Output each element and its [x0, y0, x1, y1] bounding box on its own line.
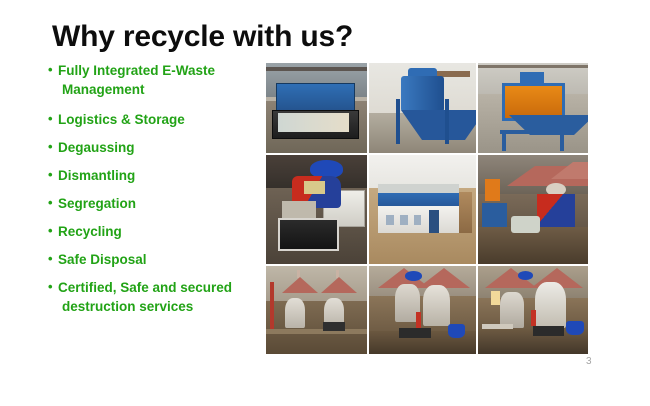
photo-red-extraction-hood	[418, 268, 470, 288]
bullet-marker-icon: •	[48, 195, 58, 211]
photo-stand-leg-right	[560, 130, 564, 152]
gallery-photo-shredder-machine	[265, 62, 368, 154]
gallery-photo-worker-under-hood	[477, 154, 589, 265]
list-item: • Segregation	[48, 195, 263, 212]
page-title: Why recycle with us?	[52, 20, 353, 54]
photo-worker-figure	[500, 292, 524, 327]
list-item-label: Fully Integrated E-Waste Management	[58, 62, 263, 98]
slide-number: 3	[586, 356, 592, 367]
photo-dismantled-chassis	[278, 218, 339, 250]
photo-building-blue-band	[378, 193, 459, 206]
gallery-photo-orange-panel-machine	[477, 62, 589, 154]
list-item: • Logistics & Storage	[48, 111, 263, 128]
list-item: • Degaussing	[48, 139, 263, 156]
gallery-photo-worker-dismantling	[265, 154, 368, 265]
gallery-photo-cyclone-separator	[368, 62, 477, 154]
photo-red-extraction-hood	[282, 277, 318, 293]
photo-blue-bucket	[566, 321, 584, 335]
photo-building-door	[429, 210, 439, 234]
gallery-photo-facility-building	[368, 154, 477, 265]
list-item-label: Segregation	[58, 195, 263, 212]
photo-orange-equipment	[485, 179, 500, 201]
photo-blue-bucket	[448, 324, 465, 338]
photo-work-lamp	[491, 291, 500, 305]
list-item-label: Logistics & Storage	[58, 111, 263, 128]
bullet-marker-icon: •	[48, 279, 58, 295]
photo-workbench	[266, 329, 367, 333]
list-item-line1: Fully Integrated E-Waste	[58, 63, 215, 78]
photo-bench-item	[511, 216, 540, 233]
photo-roof-beam	[478, 65, 588, 69]
photo-building-window	[414, 215, 421, 225]
photo-worker-figure	[285, 298, 305, 328]
list-item: • Dismantling	[48, 167, 263, 184]
list-item-label: Dismantling	[58, 167, 263, 184]
photo-bench-plank	[482, 324, 513, 329]
bullet-marker-icon: •	[48, 111, 58, 127]
photo-bench-device	[533, 326, 564, 337]
list-item: • Certified, Safe and secured destructio…	[48, 279, 263, 315]
photo-worker-figure	[535, 282, 566, 328]
photo-machine-panel	[278, 113, 349, 132]
list-item-line2: destruction services	[58, 298, 263, 315]
list-item: • Recycling	[48, 223, 263, 240]
bullet-marker-icon: •	[48, 62, 58, 78]
photo-ceiling-beam	[266, 67, 367, 72]
photo-cyclone-body	[401, 76, 444, 112]
photo-cyclone-cone	[401, 110, 477, 140]
photo-background-lower	[266, 301, 367, 354]
photo-building-roof	[378, 184, 459, 193]
list-item: • Safe Disposal	[48, 251, 263, 268]
list-item-label: Safe Disposal	[58, 251, 263, 268]
gallery-photo-worker-closeup	[477, 265, 589, 355]
photo-building-sidewall	[459, 192, 472, 233]
bullet-marker-icon: •	[48, 251, 58, 267]
photo-red-post	[270, 282, 274, 331]
gallery-photo-workers-dismantling-bench	[368, 265, 477, 355]
photo-worker-uniform	[537, 194, 574, 227]
photo-gallery-grid	[265, 62, 589, 355]
photo-stand-leg-left	[502, 130, 506, 152]
photo-red-extraction-hood	[321, 277, 357, 293]
list-item-label: Recycling	[58, 223, 263, 240]
photo-building-window	[400, 215, 407, 225]
photo-stand-rail	[500, 130, 562, 134]
bullet-marker-icon: •	[48, 139, 58, 155]
gallery-photo-two-workers-wide	[265, 265, 368, 355]
photo-red-tool	[531, 310, 536, 326]
list-item-line2: Management	[58, 81, 263, 98]
bullet-marker-icon: •	[48, 223, 58, 239]
benefits-bullet-list: • Fully Integrated E-Waste Management • …	[48, 62, 263, 326]
slide-canvas: Why recycle with us? • Fully Integrated …	[0, 0, 650, 406]
list-item-line1: Certified, Safe and secured	[58, 280, 232, 295]
photo-stand-leg-left	[396, 99, 400, 144]
bullet-marker-icon: •	[48, 167, 58, 183]
photo-held-component	[304, 181, 324, 194]
list-item-label: Certified, Safe and secured destruction …	[58, 279, 263, 315]
photo-worker-figure	[423, 285, 451, 325]
list-item: • Fully Integrated E-Waste Management	[48, 62, 263, 98]
photo-background-upper	[369, 155, 476, 188]
photo-bench-device	[399, 328, 431, 339]
photo-building-window	[386, 215, 393, 225]
photo-bench-device	[323, 322, 345, 331]
list-item-label: Degaussing	[58, 139, 263, 156]
photo-stand-leg-right	[445, 99, 449, 144]
photo-red-extraction-hood	[551, 162, 589, 179]
photo-red-tool	[416, 312, 421, 328]
photo-blue-helmet	[518, 271, 533, 280]
photo-machine-cap	[520, 72, 544, 83]
